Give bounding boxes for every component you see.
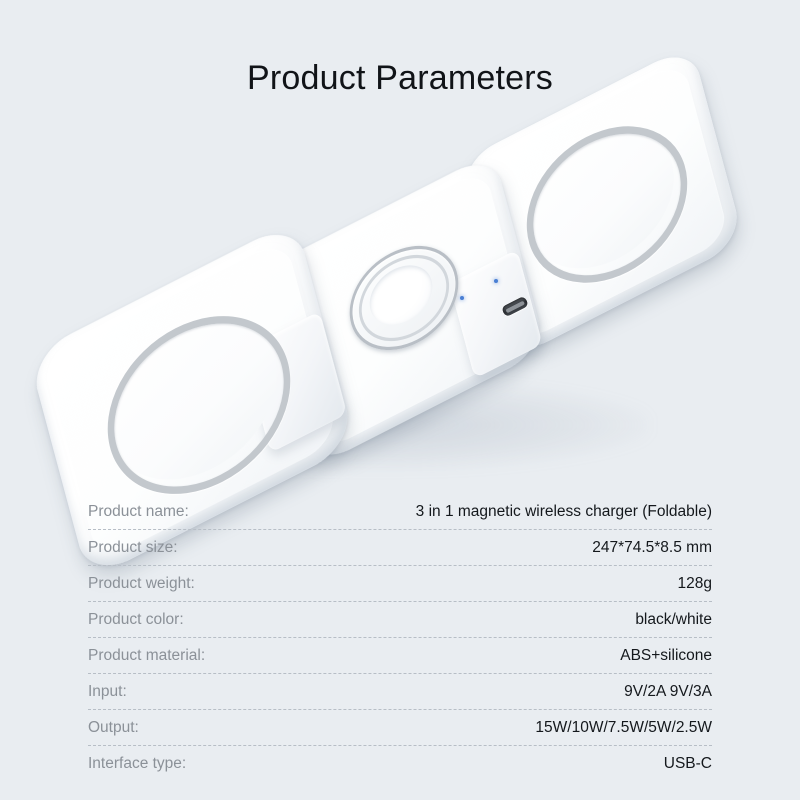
spec-table: Product name: 3 in 1 magnetic wireless c… <box>88 494 712 781</box>
spec-value: USB-C <box>664 755 712 773</box>
product-image-stage <box>0 80 800 490</box>
table-row: Product name: 3 in 1 magnetic wireless c… <box>88 494 712 530</box>
spec-label: Product material: <box>88 647 205 665</box>
spec-value: 9V/2A 9V/3A <box>624 683 712 701</box>
status-led-2 <box>494 279 498 283</box>
table-row: Product material: ABS+silicone <box>88 638 712 674</box>
spec-value: 3 in 1 magnetic wireless charger (Foldab… <box>416 503 712 521</box>
spec-value: 247*74.5*8.5 mm <box>592 539 712 557</box>
spec-label: Output: <box>88 719 139 737</box>
spec-label: Product weight: <box>88 575 195 593</box>
spec-label: Input: <box>88 683 127 701</box>
table-row: Product color: black/white <box>88 602 712 638</box>
spec-value: 128g <box>678 575 712 593</box>
table-row: Product weight: 128g <box>88 566 712 602</box>
spec-label: Product name: <box>88 503 189 521</box>
spec-label: Interface type: <box>88 755 186 773</box>
spec-value: 15W/10W/7.5W/5W/2.5W <box>535 719 712 737</box>
spec-value: black/white <box>635 611 712 629</box>
table-row: Interface type: USB-C <box>88 746 712 781</box>
product-image <box>0 80 800 490</box>
spec-value: ABS+silicone <box>620 647 712 665</box>
table-row: Output: 15W/10W/7.5W/5W/2.5W <box>88 710 712 746</box>
status-led-1 <box>460 296 464 300</box>
spec-label: Product color: <box>88 611 184 629</box>
table-row: Product size: 247*74.5*8.5 mm <box>88 530 712 566</box>
table-row: Input: 9V/2A 9V/3A <box>88 674 712 710</box>
spec-label: Product size: <box>88 539 178 557</box>
